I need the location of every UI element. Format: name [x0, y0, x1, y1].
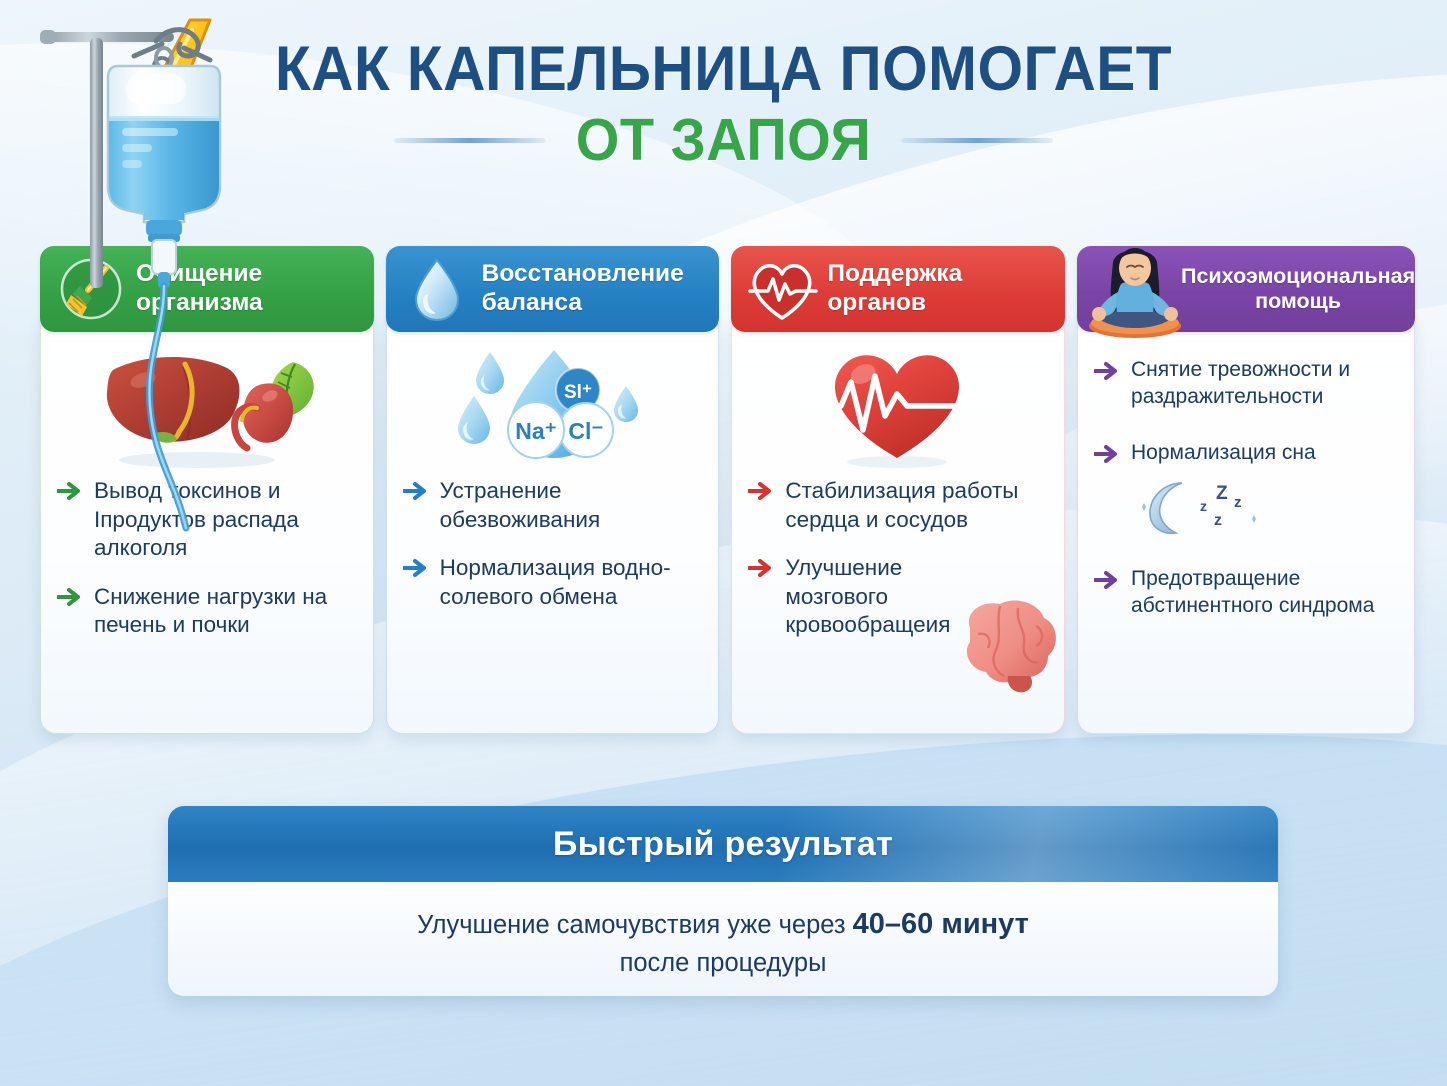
card-header-psiho: Психоэмоциональнаяпомощь	[1077, 246, 1415, 332]
water-drop-icon	[400, 252, 474, 326]
list-item-text: Нормализация сна	[1131, 440, 1316, 467]
list-item: Предотвращение абстинентного синдрома	[1094, 566, 1398, 619]
title-sub: ОТ ЗАПОЯ	[576, 106, 871, 174]
list-item: Стабилизация работы сердца и сосудов	[748, 477, 1048, 534]
card-body-balans: Sl⁺ Cl⁻ Na⁺	[386, 314, 720, 734]
moon-sleep-icon: Z z z z	[1138, 477, 1398, 544]
card-header-balans: Восстановлениебаланса	[386, 246, 720, 332]
list-item: Нормализация сна	[1094, 440, 1398, 469]
infographic-poster: КАК КАПЕЛЬНИЦА ПОМОГАЕТ ОТ ЗАПОЯ	[0, 0, 1447, 1086]
card-balans[interactable]: Восстановлениебаланса	[386, 246, 720, 734]
banner-body: Улучшение самочувствия уже через 40–60 м…	[168, 882, 1278, 981]
arrow-right-icon	[1094, 570, 1120, 595]
banner-line-1: Улучшение самочувствия уже через 40–60 м…	[168, 904, 1278, 945]
arrow-right-icon	[748, 481, 774, 506]
banner-header: Быстрый результат	[168, 806, 1278, 882]
list-item-text: Стабилизация работы сердца и сосудов	[785, 477, 1048, 534]
card-header-title: Поддержкаорганов	[827, 260, 962, 317]
fast-result-banner: Быстрый результат Улучшение самочувствия…	[168, 806, 1278, 996]
card-header-title: Восстановлениебаланса	[482, 260, 684, 317]
svg-text:Z: Z	[1216, 483, 1228, 504]
water-drops-electrolytes-icon: Sl⁺ Cl⁻ Na⁺	[403, 343, 703, 471]
card-organy[interactable]: Поддержкаорганов	[731, 246, 1065, 734]
arrow-right-icon	[1094, 444, 1120, 469]
card-psiho[interactable]: Психоэмоциональнаяпомощь Снятие тревожно…	[1077, 246, 1415, 734]
banner-title: Быстрый результат	[553, 825, 893, 864]
svg-text:z: z	[1234, 494, 1242, 511]
list-item: Устранение обезвоживания	[403, 477, 703, 534]
card-body-organy: Стабилизация работы сердца и сосудов Улу…	[731, 314, 1065, 734]
brain-icon	[944, 594, 1062, 705]
list-item-text: Предотвращение абстинентного синдрома	[1131, 566, 1398, 619]
ion-label-na: Na⁺	[515, 418, 557, 444]
svg-text:z: z	[1200, 498, 1207, 514]
card-bullets: Снятие тревожности и раздражительности Н…	[1094, 343, 1398, 620]
arrow-right-icon	[748, 558, 774, 583]
heart-heartbeat-icon	[748, 343, 1048, 471]
arrow-right-icon	[403, 558, 429, 583]
title-divider-right	[901, 138, 1053, 143]
list-item: Снятие тревожности и раздражительности	[1094, 357, 1398, 410]
meditating-woman-icon	[1083, 242, 1187, 338]
card-header-title: Психоэмоциональнаяпомощь	[1181, 264, 1415, 314]
card-header-organy: Поддержкаорганов	[731, 246, 1065, 332]
arrow-right-icon	[1094, 361, 1120, 386]
ion-label-cl: Cl⁻	[568, 418, 603, 444]
heart-pulse-icon	[745, 252, 819, 326]
arrow-right-icon	[403, 481, 429, 506]
banner-line-2: после процедуры	[168, 945, 1278, 981]
list-item-text: Снятие тревожности и раздражительности	[1131, 357, 1398, 410]
sleep-bullet-group: Нормализация сна	[1094, 440, 1398, 536]
list-item: Нормализация водно-солевого обмена	[403, 554, 703, 611]
list-item-text: Улучшение мозгового кровообращеия	[785, 554, 947, 640]
ion-label-sl: Sl⁺	[564, 382, 592, 403]
svg-text:z: z	[1214, 512, 1222, 529]
card-bullets: Устранение обезвоживания Нормализация во…	[403, 477, 703, 611]
iv-drip-icon	[34, 8, 264, 773]
list-item-text: Устранение обезвоживания	[440, 477, 703, 534]
card-body-psiho: Снятие тревожности и раздражительности Н…	[1077, 314, 1415, 734]
list-item-text: Нормализация водно-солевого обмена	[440, 554, 703, 611]
banner-duration: 40–60 минут	[853, 908, 1029, 940]
title-divider-left	[394, 138, 546, 143]
banner-line-1-prefix: Улучшение самочувствия уже через	[417, 911, 853, 939]
